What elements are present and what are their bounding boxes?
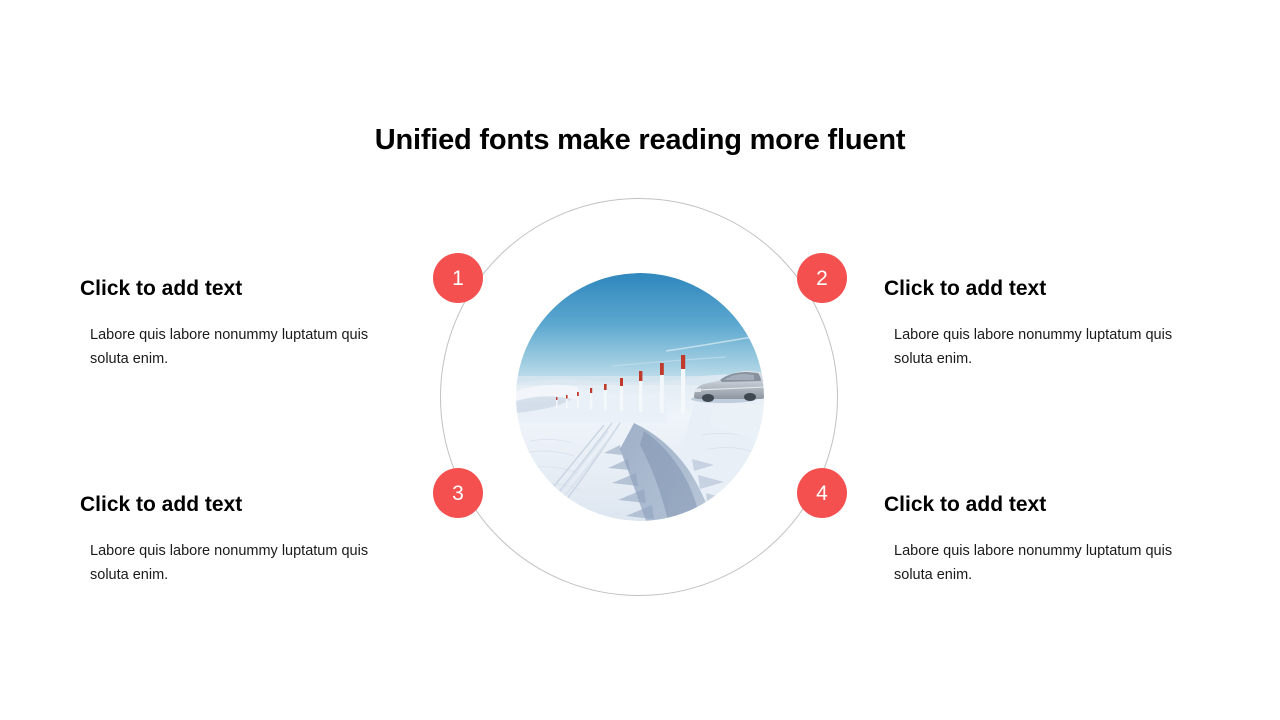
text-block-2-heading[interactable]: Click to add text — [884, 277, 1214, 300]
badge-3-number: 3 — [452, 483, 464, 504]
text-block-3-body[interactable]: Labore quis labore nonummy luptatum quis… — [80, 540, 410, 587]
badge-2-number: 2 — [816, 268, 828, 289]
text-block-4[interactable]: Click to add text Labore quis labore non… — [884, 493, 1214, 587]
center-photo — [516, 273, 764, 521]
badge-1[interactable]: 1 — [433, 253, 483, 303]
text-block-4-heading[interactable]: Click to add text — [884, 493, 1214, 516]
text-block-3[interactable]: Click to add text Labore quis labore non… — [80, 493, 410, 587]
badge-4[interactable]: 4 — [797, 468, 847, 518]
text-block-2-body[interactable]: Labore quis labore nonummy luptatum quis… — [884, 324, 1214, 371]
text-block-1[interactable]: Click to add text Labore quis labore non… — [80, 277, 410, 371]
text-block-2[interactable]: Click to add text Labore quis labore non… — [884, 277, 1214, 371]
text-block-4-body[interactable]: Labore quis labore nonummy luptatum quis… — [884, 540, 1214, 587]
text-block-3-heading[interactable]: Click to add text — [80, 493, 410, 516]
circular-diagram: 1 2 3 4 — [440, 198, 840, 598]
badge-2[interactable]: 2 — [797, 253, 847, 303]
badge-4-number: 4 — [816, 483, 828, 504]
page-title: Unified fonts make reading more fluent — [0, 124, 1280, 157]
badge-1-number: 1 — [452, 268, 464, 289]
badge-3[interactable]: 3 — [433, 468, 483, 518]
text-block-1-heading[interactable]: Click to add text — [80, 277, 410, 300]
text-block-1-body[interactable]: Labore quis labore nonummy luptatum quis… — [80, 324, 410, 371]
